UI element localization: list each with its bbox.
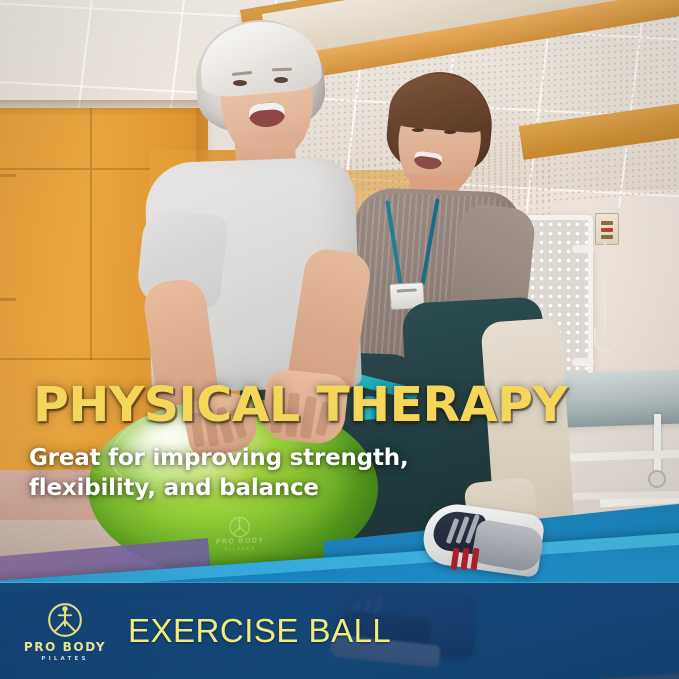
brand-name: PRO BODY — [24, 640, 106, 654]
pro-body-pilates-emblem-icon — [228, 516, 251, 539]
client-eye-right — [274, 77, 288, 83]
therapist-eye-left — [412, 128, 424, 132]
pull-cord — [604, 243, 606, 333]
table-caster — [648, 470, 666, 488]
treatment-table-cushion — [560, 392, 679, 428]
radiator-bracket-bottom — [572, 358, 594, 366]
cabinet-top-shadow — [0, 100, 208, 116]
subheadline-line-1: Great for improving strength, — [29, 443, 408, 473]
radiator-bracket-top — [572, 245, 594, 253]
ball-printed-logo: PRO BODY PILATES — [199, 515, 280, 562]
bottom-brand-bar: PRO BODY PILATES EXERCISE BALL — [0, 583, 679, 679]
brand-tagline: PILATES — [41, 656, 88, 662]
pro-body-pilates-logo-icon — [46, 601, 84, 639]
product-label: EXERCISE BALL — [128, 612, 391, 650]
client-eye-left — [233, 80, 247, 86]
subheadline-line-2: flexibility, and balance — [29, 473, 408, 503]
therapist-eye-right — [444, 130, 456, 134]
page-title: PHYSICAL THERAPY — [33, 381, 567, 429]
pull-cord-loop — [594, 328, 612, 352]
product-poster: PRO BODY PILATES PHYSICAL THERAPY Great … — [0, 0, 679, 679]
subheadline: Great for improving strength, flexibilit… — [29, 443, 408, 504]
brand-lockup: PRO BODY PILATES — [6, 601, 124, 662]
wall-call-plate — [595, 213, 619, 245]
